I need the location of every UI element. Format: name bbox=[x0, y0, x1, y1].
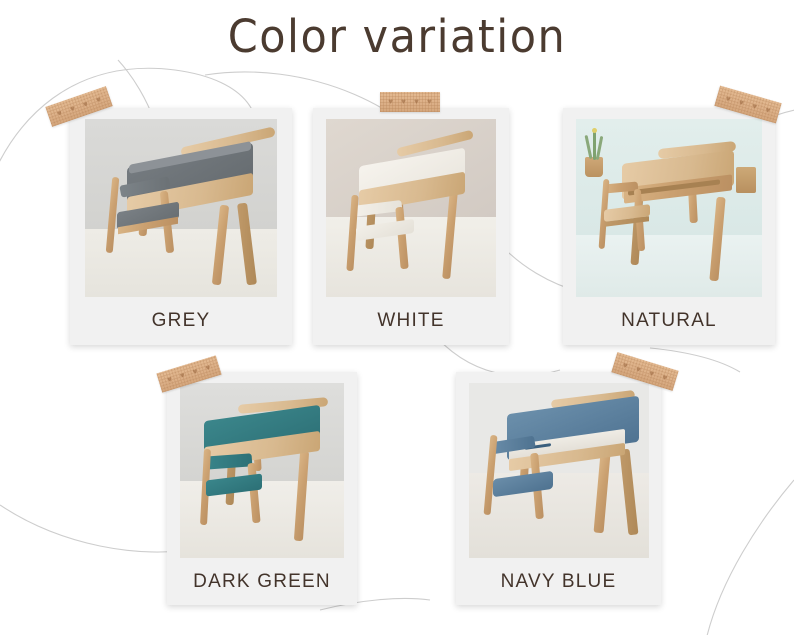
washi-tape-white: ♥♥♥♥ bbox=[380, 92, 440, 112]
photo-scene bbox=[326, 119, 496, 297]
card-label-navy-blue: NAVY BLUE bbox=[456, 558, 661, 605]
photo-scene bbox=[576, 119, 762, 297]
photo-scene bbox=[85, 119, 277, 297]
color-card-white[interactable]: WHITE bbox=[313, 108, 509, 345]
product-photo-white bbox=[326, 119, 496, 297]
color-card-natural[interactable]: NATURAL bbox=[563, 108, 775, 345]
tape-heart-icons: ♥♥♥♥ bbox=[380, 92, 440, 112]
card-label-white: WHITE bbox=[313, 297, 509, 345]
photo-scene bbox=[469, 383, 649, 558]
card-label-natural: NATURAL bbox=[563, 297, 775, 345]
page-title-text: Color variation bbox=[228, 11, 567, 64]
product-photo-dark-green bbox=[180, 383, 344, 558]
poster-root: Color variation GR bbox=[0, 0, 794, 635]
card-label-dark-green: DARK GREEN bbox=[167, 558, 357, 605]
color-card-dark-green[interactable]: DARK GREEN bbox=[167, 372, 357, 605]
card-label-grey: GREY bbox=[70, 297, 292, 345]
product-photo-natural bbox=[576, 119, 762, 297]
product-photo-grey bbox=[85, 119, 277, 297]
color-card-grey[interactable]: GREY bbox=[70, 108, 292, 345]
color-card-navy-blue[interactable]: NAVY BLUE bbox=[456, 372, 661, 605]
photo-scene bbox=[180, 383, 344, 558]
product-photo-navy-blue bbox=[469, 383, 649, 558]
page-title: Color variation bbox=[0, 12, 794, 62]
